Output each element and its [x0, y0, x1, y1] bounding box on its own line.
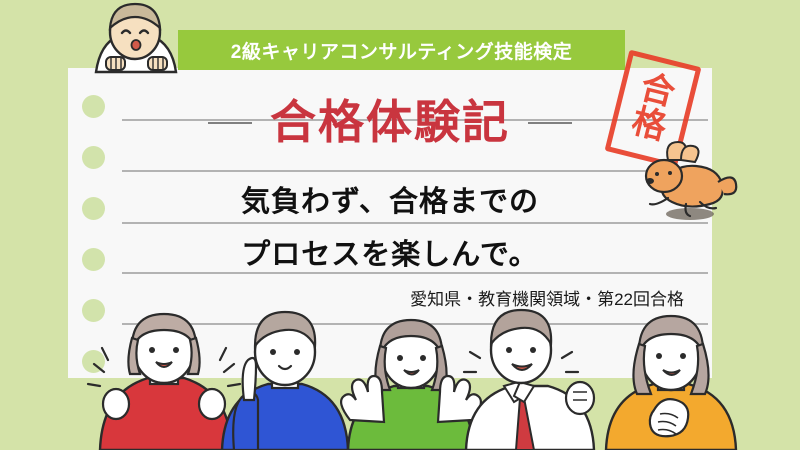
- note-rule-line: [122, 170, 708, 172]
- lower-green-strip: [0, 378, 800, 450]
- note-rule-line: [122, 222, 708, 224]
- poster-canvas: 2級キャリアコンサルティング技能検定 合格体験記 気負わず、合格までの プロセス…: [0, 0, 800, 450]
- pass-stamp-char-2: 格: [628, 106, 669, 146]
- note-hole-dot: [82, 350, 105, 373]
- title-text: 合格体験記: [270, 100, 510, 146]
- subtitle-line-2: プロセスを楽しんで。: [68, 230, 712, 274]
- subtitle-line-1: 気負わず、合格までの: [68, 177, 712, 221]
- exam-name-label: 2級キャリアコンサルティング技能検定: [231, 37, 572, 64]
- attribution-text: 愛知県・教育機関領域・第22回合格: [68, 282, 698, 312]
- exam-name-banner: 2級キャリアコンサルティング技能検定: [178, 30, 625, 70]
- note-rule-line: [122, 323, 708, 325]
- title-dash-left: [208, 122, 252, 124]
- peeking-person-icon: [96, 4, 176, 72]
- title-dash-right: [528, 122, 572, 124]
